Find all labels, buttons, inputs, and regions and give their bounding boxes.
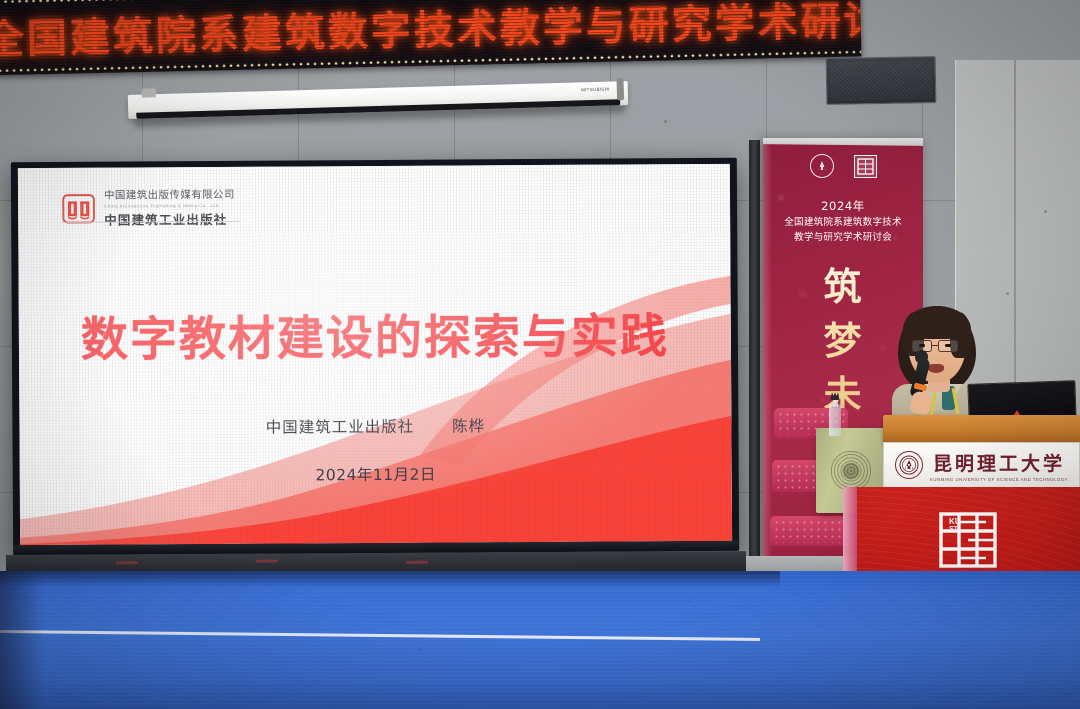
kust-seal-glyph xyxy=(814,158,830,174)
publisher-company-name-en: China Architecture Publishing & Media Co… xyxy=(104,203,235,209)
projection-screen-bracket-right xyxy=(616,78,624,100)
podium-wooden-top xyxy=(883,415,1080,443)
publisher-press-name: 中国建筑工业出版社 xyxy=(104,209,235,229)
kust-square-emblem-icon: KU ST xyxy=(938,511,998,569)
eye-left xyxy=(919,344,925,347)
wall-mounted-pa-speaker xyxy=(826,56,937,105)
floor-left-shading xyxy=(0,571,44,709)
slide-presenter: 陈桦 xyxy=(452,417,485,435)
eye-right xyxy=(945,344,951,347)
presentation-slide: 中国建筑出版传媒有限公司 China Architecture Publishi… xyxy=(18,164,732,545)
publisher-book-mark-icon xyxy=(62,193,95,223)
led-display-wall: 中国建筑出版传媒有限公司 China Architecture Publishi… xyxy=(11,158,739,555)
banner-line2: 教学与研究学术研讨会 xyxy=(763,231,923,246)
banner-year: 2024年 xyxy=(763,198,923,216)
water-bottle-icon xyxy=(827,392,843,436)
ledge-mark xyxy=(406,561,428,564)
speaker-grille-mesh xyxy=(830,60,933,101)
banner-heading-block: 2024年 全国建筑院系建筑数字技术 教学与研究学术研讨会 xyxy=(763,198,923,246)
ledge-mark xyxy=(256,560,278,563)
slide-title: 数字教材建设的探索与实践 xyxy=(19,297,731,370)
banner-stand-pole xyxy=(749,140,760,610)
wall-spot xyxy=(664,120,667,123)
square-seal-icon xyxy=(854,155,877,178)
university-name-block: 昆明理工大学 KUNMING UNIVERSITY OF SCIENCE AND… xyxy=(930,449,1068,482)
kust-circular-logo-icon xyxy=(895,451,923,479)
bottle-body xyxy=(829,404,841,436)
projection-screen-bracket-left xyxy=(142,88,156,97)
publisher-company-name: 中国建筑出版传媒有限公司 xyxy=(104,187,235,203)
wall-spot xyxy=(1044,210,1047,213)
square-seal-glyph xyxy=(857,158,874,175)
chair xyxy=(770,516,850,546)
slide-viewport: 中国建筑出版传媒有限公司 China Architecture Publishi… xyxy=(18,164,732,545)
ledge-mark xyxy=(116,561,138,564)
banner-line1: 全国建筑院系建筑数字技术 xyxy=(763,216,923,231)
svg-text:ST: ST xyxy=(949,526,959,533)
mouth xyxy=(928,364,944,373)
university-name-cn: 昆明理工大学 xyxy=(933,449,1065,476)
podium-university-sign: 昆明理工大学 KUNMING UNIVERSITY OF SCIENCE AND… xyxy=(883,442,1080,488)
kust-seal-icon xyxy=(810,154,834,178)
wall-spot xyxy=(1006,292,1009,295)
gym-floor xyxy=(0,571,1080,709)
projector-brand-label: MITSUBISHI xyxy=(581,87,610,93)
kust-logo-glyph xyxy=(899,455,919,475)
bottle-cap xyxy=(830,392,840,400)
chair-perforation xyxy=(773,519,847,543)
conference-photo-scene: 年全国建筑院系建筑数字技术教学与研究学术研讨会 MITSUBISHI xyxy=(0,0,1080,709)
floor-texture xyxy=(0,571,1080,709)
eyeglasses-bridge xyxy=(932,345,939,346)
slide-date: 2024年11月2日 xyxy=(20,461,732,487)
slide-author-line: 中国建筑工业出版社 陈桦 xyxy=(19,413,731,439)
banner-logo-row xyxy=(763,154,923,178)
presenter-hand xyxy=(909,390,933,415)
university-name-en: KUNMING UNIVERSITY OF SCIENCE AND TECHNO… xyxy=(930,477,1068,482)
slide-affiliation: 中国建筑工业出版社 xyxy=(266,418,415,437)
podium-emblem-glyph: KU ST xyxy=(938,511,998,569)
svg-text:KU: KU xyxy=(949,517,961,526)
